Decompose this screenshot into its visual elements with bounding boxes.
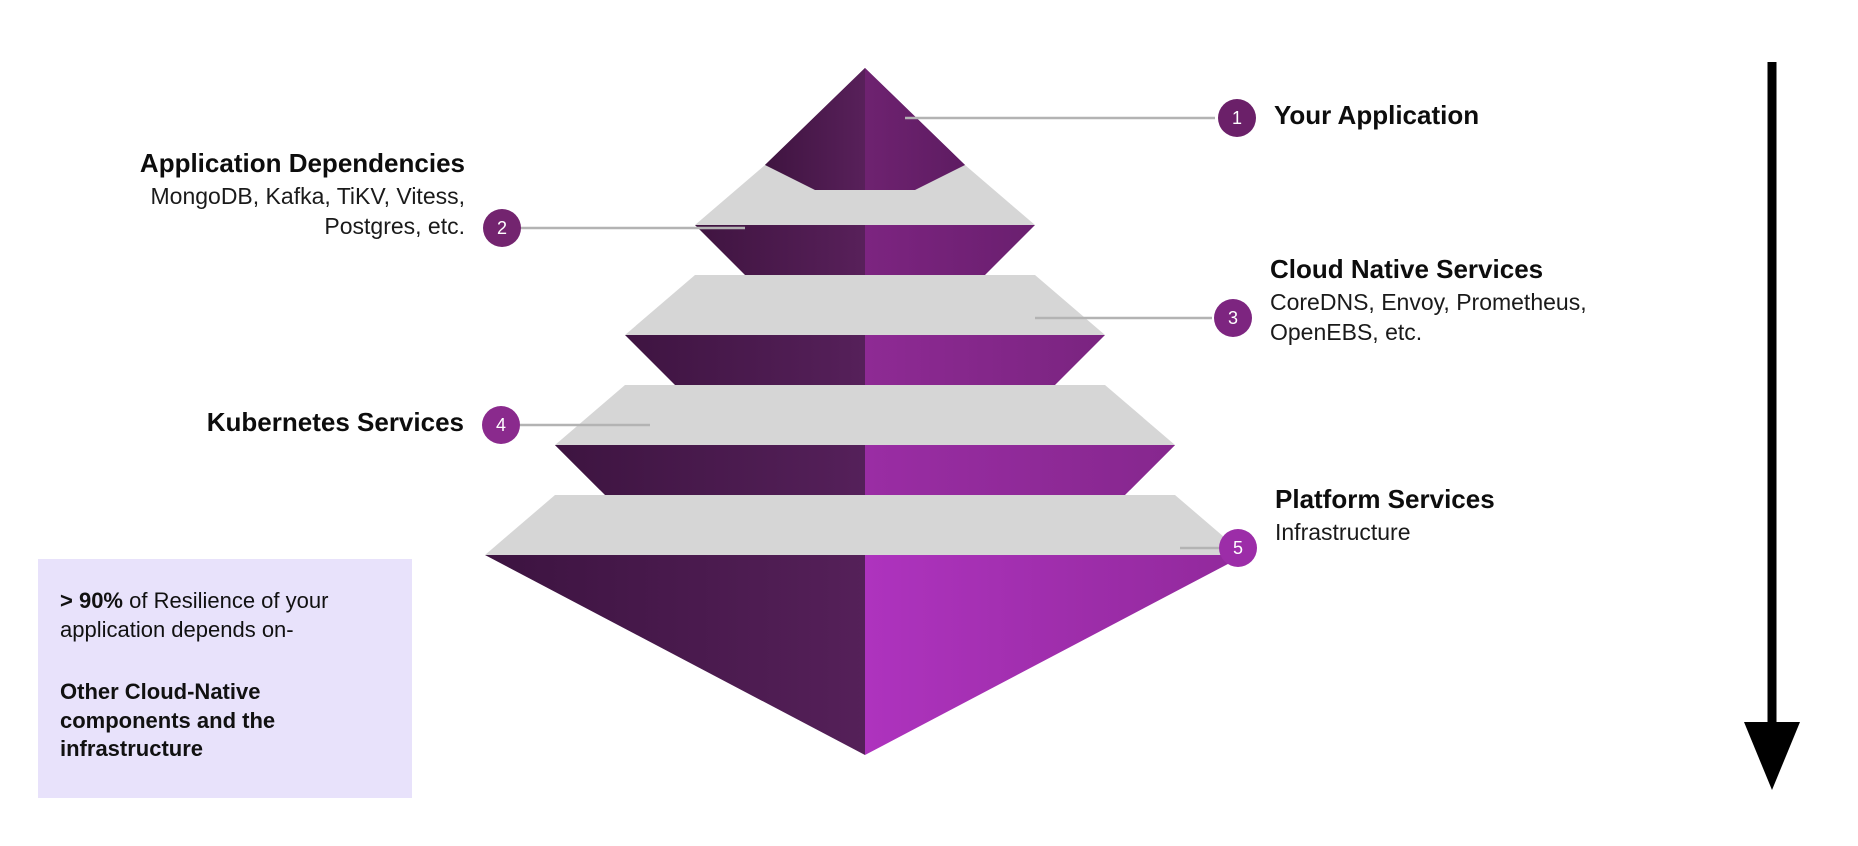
badge-2[interactable]: 2 <box>483 209 521 247</box>
callout-cloud-native-services[interactable]: 3 Cloud Native Services CoreDNS, Envoy, … <box>1214 299 1615 347</box>
callout-your-application[interactable]: 1 Your Application <box>1218 99 1479 137</box>
badge-1[interactable]: 1 <box>1218 99 1256 137</box>
callout-3-title: Cloud Native Services <box>1270 253 1615 286</box>
note-percent: > 90% <box>60 588 123 613</box>
tier-4-left-body <box>555 445 865 495</box>
callout-3-text: Cloud Native Services CoreDNS, Envoy, Pr… <box>1252 253 1615 347</box>
tier-5-right-face <box>865 555 1245 755</box>
tier-5-left-face <box>485 555 865 755</box>
tier-1-right-body <box>865 68 965 165</box>
pyramid-tier-4[interactable] <box>555 385 1175 495</box>
callout-3-subtitle: CoreDNS, Envoy, Prometheus, OpenEBS, etc… <box>1270 288 1615 347</box>
badge-4[interactable]: 4 <box>482 406 520 444</box>
callout-platform-services[interactable]: 5 Platform Services Infrastructure <box>1219 529 1605 567</box>
tier-2-left-face <box>695 225 865 275</box>
note-line-1: > 90% of Resilience of your application … <box>60 587 378 644</box>
callout-5-subtitle: Infrastructure <box>1275 518 1605 547</box>
diagram-canvas: 1 Your Application 3 Cloud Native Servic… <box>0 0 1858 846</box>
badge-3[interactable]: 3 <box>1214 299 1252 337</box>
tier-3-left-face <box>625 335 865 385</box>
tier-1-left-body <box>765 68 865 165</box>
pyramid-tier-5[interactable] <box>485 495 1245 755</box>
callout-1-text: Your Application <box>1256 99 1479 132</box>
callout-2-text: Application Dependencies MongoDB, Kafka,… <box>86 147 483 241</box>
callout-2-subtitle: MongoDB, Kafka, TiKV, Vitess, Postgres, … <box>86 182 465 241</box>
callout-5-title: Platform Services <box>1275 483 1605 516</box>
callout-4-text: Kubernetes Services <box>144 406 482 439</box>
tier-4-right-body <box>865 445 1175 495</box>
impact-arrow <box>1744 62 1800 790</box>
callout-kubernetes-services[interactable]: Kubernetes Services 4 <box>120 406 520 444</box>
callout-application-dependencies[interactable]: Application Dependencies MongoDB, Kafka,… <box>86 209 521 247</box>
callout-4-title: Kubernetes Services <box>144 406 464 439</box>
callout-5-text: Platform Services Infrastructure <box>1257 483 1605 548</box>
tier-5-top-face-left <box>485 495 865 555</box>
tier-3-right-face <box>865 335 1105 385</box>
tier-4-top-face-left <box>555 385 865 445</box>
callout-1-title: Your Application <box>1274 99 1479 132</box>
tier-2-right-face <box>865 225 1035 275</box>
badge-5[interactable]: 5 <box>1219 529 1257 567</box>
note-line-2: Other Cloud-Native components and the in… <box>60 678 378 764</box>
tier-3-top-face-right <box>865 275 1105 335</box>
resilience-note-box: > 90% of Resilience of your application … <box>38 559 412 798</box>
tier-5-top-face <box>865 495 1245 555</box>
pyramid-tier-1[interactable] <box>765 68 965 190</box>
callout-2-title: Application Dependencies <box>86 147 465 180</box>
tier-3-top-face-left <box>625 275 865 335</box>
pyramid-tier-3[interactable] <box>625 275 1105 385</box>
tier-4-top-face-right <box>865 385 1175 445</box>
